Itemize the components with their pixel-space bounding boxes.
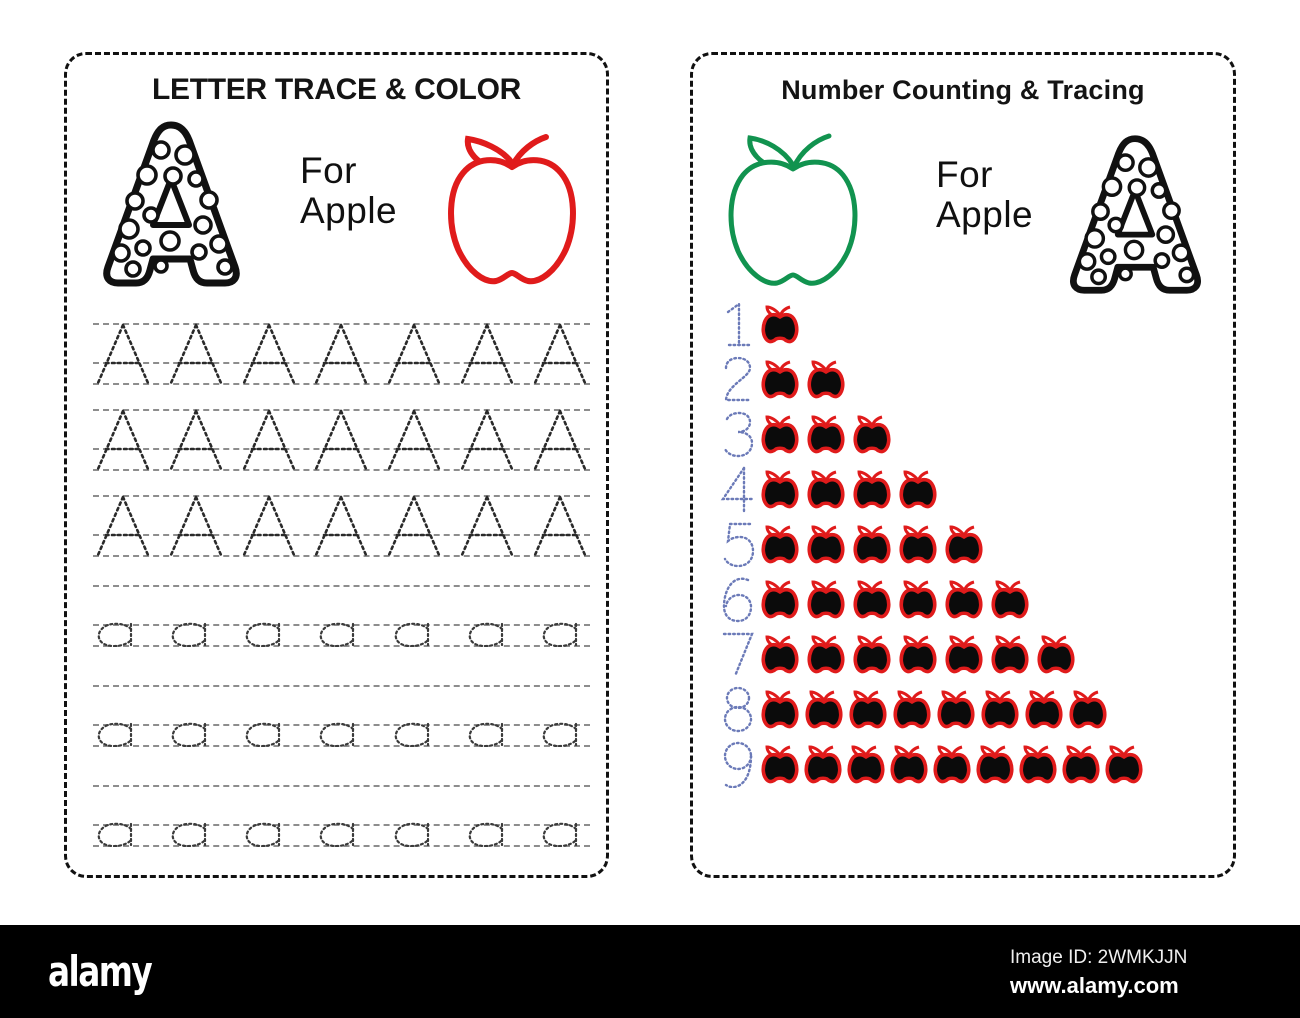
apple-icon <box>761 689 799 729</box>
apple-icon <box>890 744 928 784</box>
counting-row-2[interactable] <box>715 353 1215 405</box>
right-panel-header: For Apple <box>693 113 1233 288</box>
trace-row-uppercase-2[interactable] <box>93 409 590 471</box>
apple-icon <box>899 634 937 674</box>
apple-icon <box>899 469 937 509</box>
trace-row-lowercase-1[interactable] <box>93 585 590 647</box>
apple-icon <box>807 524 845 564</box>
trace-glyph-group <box>95 409 588 471</box>
apple-icon <box>945 579 983 619</box>
apple-icon <box>991 634 1029 674</box>
numeral-trace-9[interactable] <box>715 740 761 788</box>
apple-icon <box>976 744 1014 784</box>
apple-icon <box>761 469 799 509</box>
apple-icon <box>807 634 845 674</box>
apple-icon <box>981 689 1019 729</box>
apple-group <box>761 469 937 509</box>
apple-group <box>761 304 799 344</box>
for-apple-label-left: For Apple <box>300 151 397 231</box>
apple-group <box>761 634 1075 674</box>
red-apple-outline-icon <box>442 115 582 295</box>
apple-group <box>761 744 1143 784</box>
trace-row-lowercase-3[interactable] <box>93 785 590 847</box>
polka-dot-letter-a-icon <box>99 117 244 294</box>
guide-line-top <box>93 785 590 787</box>
for-apple-label-right: For Apple <box>936 155 1033 235</box>
letter-trace-panel: LETTER TRACE & COLOR <box>64 52 609 878</box>
apple-icon <box>761 414 799 454</box>
apple-icon <box>933 744 971 784</box>
apple-icon <box>853 579 891 619</box>
apple-icon <box>893 689 931 729</box>
counting-row-4[interactable] <box>715 463 1215 515</box>
apple-group <box>761 579 1029 619</box>
apple-icon <box>937 689 975 729</box>
numeral-trace-7[interactable] <box>715 630 761 678</box>
apple-group <box>761 689 1107 729</box>
polka-dot-letter-a-icon <box>1063 131 1208 301</box>
apple-icon <box>991 579 1029 619</box>
apple-icon <box>805 689 843 729</box>
apple-icon <box>761 744 799 784</box>
trace-glyph-group <box>95 323 588 385</box>
apple-icon <box>899 579 937 619</box>
apple-icon <box>853 524 891 564</box>
counting-row-8[interactable] <box>715 683 1235 735</box>
counting-row-1[interactable] <box>715 298 1215 350</box>
apple-icon <box>853 414 891 454</box>
alamy-url-label: www.alamy.com <box>1010 973 1179 999</box>
counting-row-7[interactable] <box>715 628 1215 680</box>
trace-glyph-group <box>95 722 588 747</box>
trace-row-uppercase-1[interactable] <box>93 323 590 385</box>
guide-line-top <box>93 685 590 687</box>
green-apple-outline-icon <box>723 113 863 298</box>
apple-icon <box>761 579 799 619</box>
apple-icon <box>1062 744 1100 784</box>
counting-row-9[interactable] <box>715 738 1235 790</box>
alamy-logo: alamy <box>48 947 151 996</box>
apple-icon <box>807 414 845 454</box>
numeral-trace-4[interactable] <box>715 465 761 513</box>
numeral-trace-3[interactable] <box>715 410 761 458</box>
counting-row-5[interactable] <box>715 518 1215 570</box>
guide-line-top <box>93 585 590 587</box>
apple-icon <box>761 524 799 564</box>
apple-icon <box>761 304 799 344</box>
apple-icon <box>849 689 887 729</box>
trace-glyph-group <box>95 822 588 847</box>
apple-icon <box>899 524 937 564</box>
apple-icon <box>1105 744 1143 784</box>
alamy-watermark-bar: alamy Image ID: 2WMKJJN www.alamy.com <box>0 925 1300 1018</box>
numeral-trace-6[interactable] <box>715 575 761 623</box>
number-counting-panel: Number Counting & Tracing For Apple <box>690 52 1236 878</box>
apple-icon <box>853 634 891 674</box>
image-id-label: Image ID: 2WMKJJN <box>1010 947 1187 969</box>
apple-icon <box>807 359 845 399</box>
apple-icon <box>761 634 799 674</box>
apple-icon <box>853 469 891 509</box>
apple-icon <box>804 744 842 784</box>
trace-row-uppercase-3[interactable] <box>93 495 590 557</box>
counting-row-3[interactable] <box>715 408 1215 460</box>
numeral-trace-8[interactable] <box>715 685 761 733</box>
numeral-trace-2[interactable] <box>715 355 761 403</box>
apple-icon <box>847 744 885 784</box>
counting-row-6[interactable] <box>715 573 1215 625</box>
apple-icon <box>807 469 845 509</box>
apple-group <box>761 414 891 454</box>
left-panel-header: For Apple <box>67 113 606 288</box>
apple-icon <box>1069 689 1107 729</box>
worksheet-sheet: LETTER TRACE & COLOR <box>0 0 1300 925</box>
numeral-trace-1[interactable] <box>715 300 761 348</box>
apple-icon <box>945 524 983 564</box>
page-title-letter-trace: LETTER TRACE & COLOR <box>67 73 606 107</box>
page-title-number-counting: Number Counting & Tracing <box>693 75 1233 106</box>
numeral-trace-5[interactable] <box>715 520 761 568</box>
apple-icon <box>761 359 799 399</box>
trace-glyph-group <box>95 495 588 557</box>
trace-glyph-group <box>95 622 588 647</box>
apple-icon <box>1037 634 1075 674</box>
apple-group <box>761 524 983 564</box>
apple-icon <box>1025 689 1063 729</box>
apple-icon <box>945 634 983 674</box>
apple-group <box>761 359 845 399</box>
apple-icon <box>807 579 845 619</box>
trace-row-lowercase-2[interactable] <box>93 685 590 747</box>
apple-icon <box>1019 744 1057 784</box>
